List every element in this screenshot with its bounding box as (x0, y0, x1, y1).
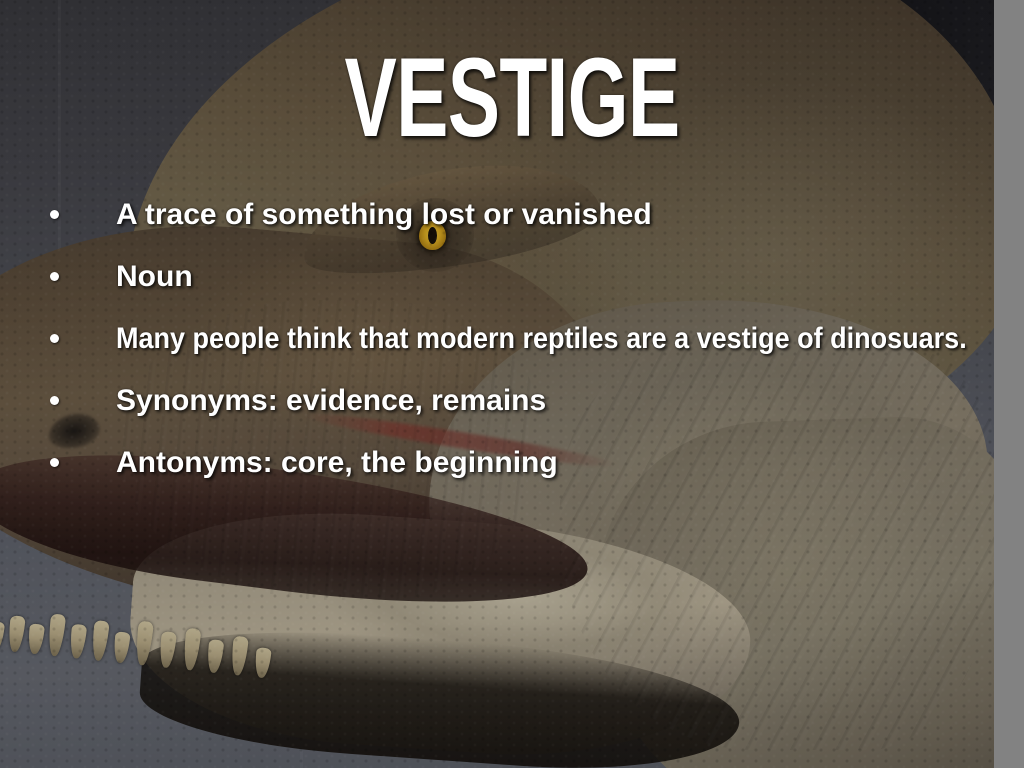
list-item: Many people think that modern reptiles a… (0, 320, 1000, 382)
list-item: Synonyms: evidence, remains (0, 382, 1000, 444)
bullet-dot-icon (50, 334, 59, 343)
bullet-text: Antonyms: core, the beginning (116, 444, 558, 482)
slide-title: VESTIGE (154, 42, 871, 154)
bullet-dot-icon (50, 272, 59, 281)
bullet-dot-icon (50, 396, 59, 405)
bullet-dot-icon (50, 458, 59, 467)
list-item: A trace of something lost or vanished (0, 196, 1000, 258)
bullet-list: A trace of something lost or vanished No… (0, 196, 1000, 506)
slide: VESTIGE A trace of something lost or van… (0, 0, 1024, 768)
bullet-text: A trace of something lost or vanished (116, 196, 652, 234)
list-item: Noun (0, 258, 1000, 320)
slide-content: VESTIGE A trace of something lost or van… (0, 0, 1024, 768)
bullet-text: Synonyms: evidence, remains (116, 382, 546, 420)
bullet-text: Noun (116, 258, 193, 296)
right-margin-bar (994, 0, 1024, 768)
bullet-text: Many people think that modern reptiles a… (116, 320, 967, 358)
bullet-dot-icon (50, 210, 59, 219)
list-item: Antonyms: core, the beginning (0, 444, 1000, 506)
